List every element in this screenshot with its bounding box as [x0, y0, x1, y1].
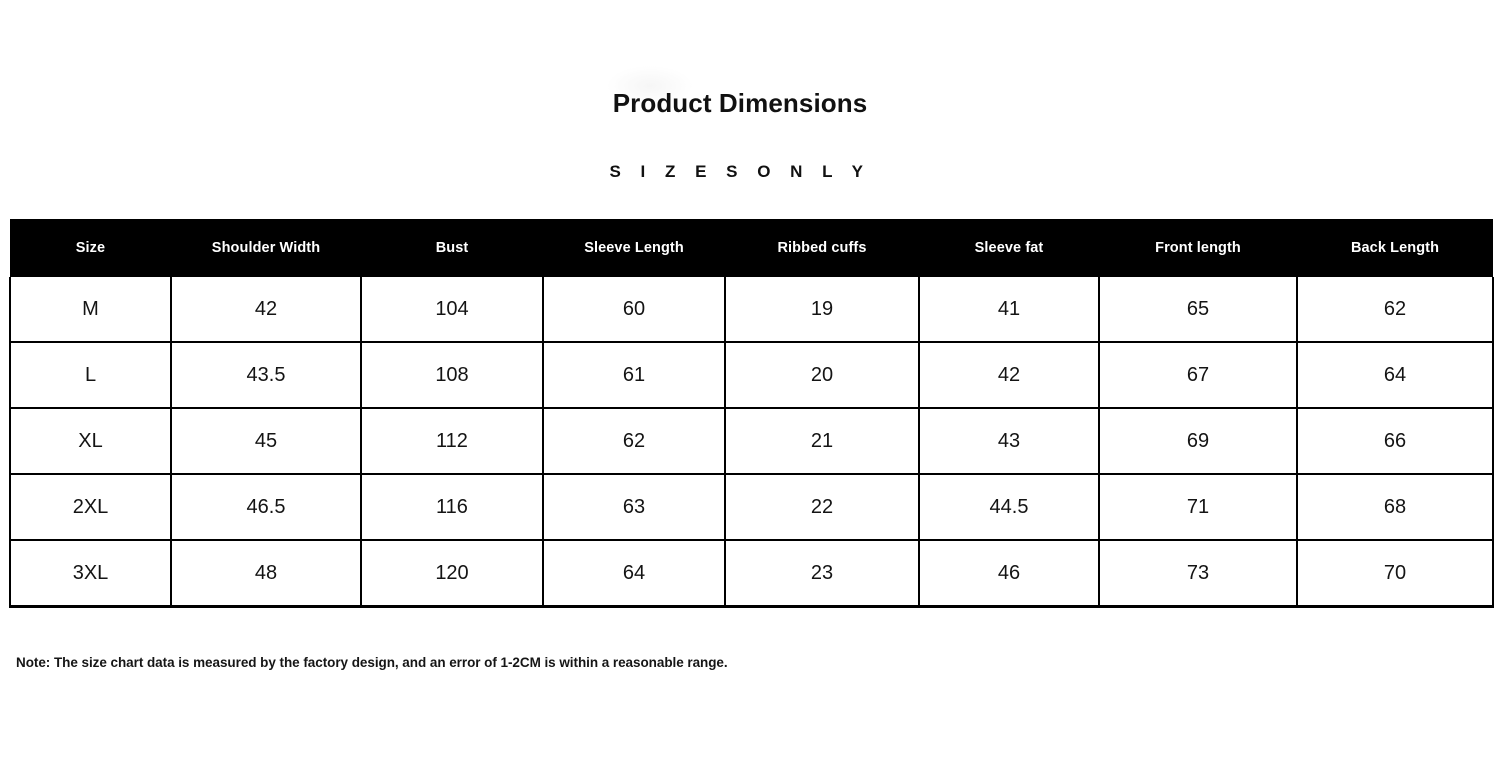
cell-back-length: 66: [1297, 408, 1493, 474]
cell-sleeve-fat: 42: [919, 342, 1099, 408]
column-header-shoulder-width: Shoulder Width: [171, 219, 361, 277]
size-chart-page: Product Dimensions S I Z E S O N L Y Siz…: [0, 0, 1500, 771]
table-row: L 43.5 108 61 20 42 67 64: [10, 342, 1493, 408]
cell-front-length: 65: [1099, 277, 1297, 342]
table-row: M 42 104 60 19 41 65 62: [10, 277, 1493, 342]
cell-shoulder-width: 45: [171, 408, 361, 474]
cell-back-length: 62: [1297, 277, 1493, 342]
table-row: 3XL 48 120 64 23 46 73 70: [10, 540, 1493, 607]
column-header-back-length: Back Length: [1297, 219, 1493, 277]
table-body: M 42 104 60 19 41 65 62 L 43.5 108 61 20…: [10, 277, 1493, 607]
cell-back-length: 68: [1297, 474, 1493, 540]
cell-sleeve-length: 64: [543, 540, 725, 607]
cell-shoulder-width: 46.5: [171, 474, 361, 540]
cell-bust: 116: [361, 474, 543, 540]
table-row: XL 45 112 62 21 43 69 66: [10, 408, 1493, 474]
cell-sleeve-fat: 46: [919, 540, 1099, 607]
cell-sleeve-fat: 44.5: [919, 474, 1099, 540]
cell-size: XL: [10, 408, 171, 474]
cell-shoulder-width: 43.5: [171, 342, 361, 408]
cell-ribbed-cuffs: 22: [725, 474, 919, 540]
table-header: Size Shoulder Width Bust Sleeve Length R…: [10, 219, 1493, 277]
cell-bust: 120: [361, 540, 543, 607]
table-header-row: Size Shoulder Width Bust Sleeve Length R…: [10, 219, 1493, 277]
cell-shoulder-width: 42: [171, 277, 361, 342]
table-row: 2XL 46.5 116 63 22 44.5 71 68: [10, 474, 1493, 540]
cell-size: M: [10, 277, 171, 342]
column-header-ribbed-cuffs: Ribbed cuffs: [725, 219, 919, 277]
cell-sleeve-length: 60: [543, 277, 725, 342]
column-header-sleeve-fat: Sleeve fat: [919, 219, 1099, 277]
cell-bust: 112: [361, 408, 543, 474]
column-header-bust: Bust: [361, 219, 543, 277]
column-header-size: Size: [10, 219, 171, 277]
size-chart-table-container: Size Shoulder Width Bust Sleeve Length R…: [9, 219, 1492, 608]
cell-ribbed-cuffs: 19: [725, 277, 919, 342]
cell-back-length: 64: [1297, 342, 1493, 408]
cell-size: 3XL: [10, 540, 171, 607]
cell-front-length: 73: [1099, 540, 1297, 607]
cell-ribbed-cuffs: 21: [725, 408, 919, 474]
cell-front-length: 69: [1099, 408, 1297, 474]
cell-sleeve-fat: 41: [919, 277, 1099, 342]
cell-sleeve-length: 62: [543, 408, 725, 474]
cell-shoulder-width: 48: [171, 540, 361, 607]
cell-ribbed-cuffs: 20: [725, 342, 919, 408]
column-header-front-length: Front length: [1099, 219, 1297, 277]
cell-size: 2XL: [10, 474, 171, 540]
page-subtitle: S I Z E S O N L Y: [0, 162, 1480, 182]
cell-front-length: 71: [1099, 474, 1297, 540]
cell-back-length: 70: [1297, 540, 1493, 607]
cell-sleeve-length: 63: [543, 474, 725, 540]
cell-size: L: [10, 342, 171, 408]
size-chart-table: Size Shoulder Width Bust Sleeve Length R…: [9, 219, 1494, 608]
cell-sleeve-length: 61: [543, 342, 725, 408]
size-chart-note: Note: The size chart data is measured by…: [16, 655, 728, 670]
cell-front-length: 67: [1099, 342, 1297, 408]
page-title: Product Dimensions: [0, 88, 1480, 119]
cell-bust: 108: [361, 342, 543, 408]
column-header-sleeve-length: Sleeve Length: [543, 219, 725, 277]
cell-sleeve-fat: 43: [919, 408, 1099, 474]
cell-ribbed-cuffs: 23: [725, 540, 919, 607]
cell-bust: 104: [361, 277, 543, 342]
